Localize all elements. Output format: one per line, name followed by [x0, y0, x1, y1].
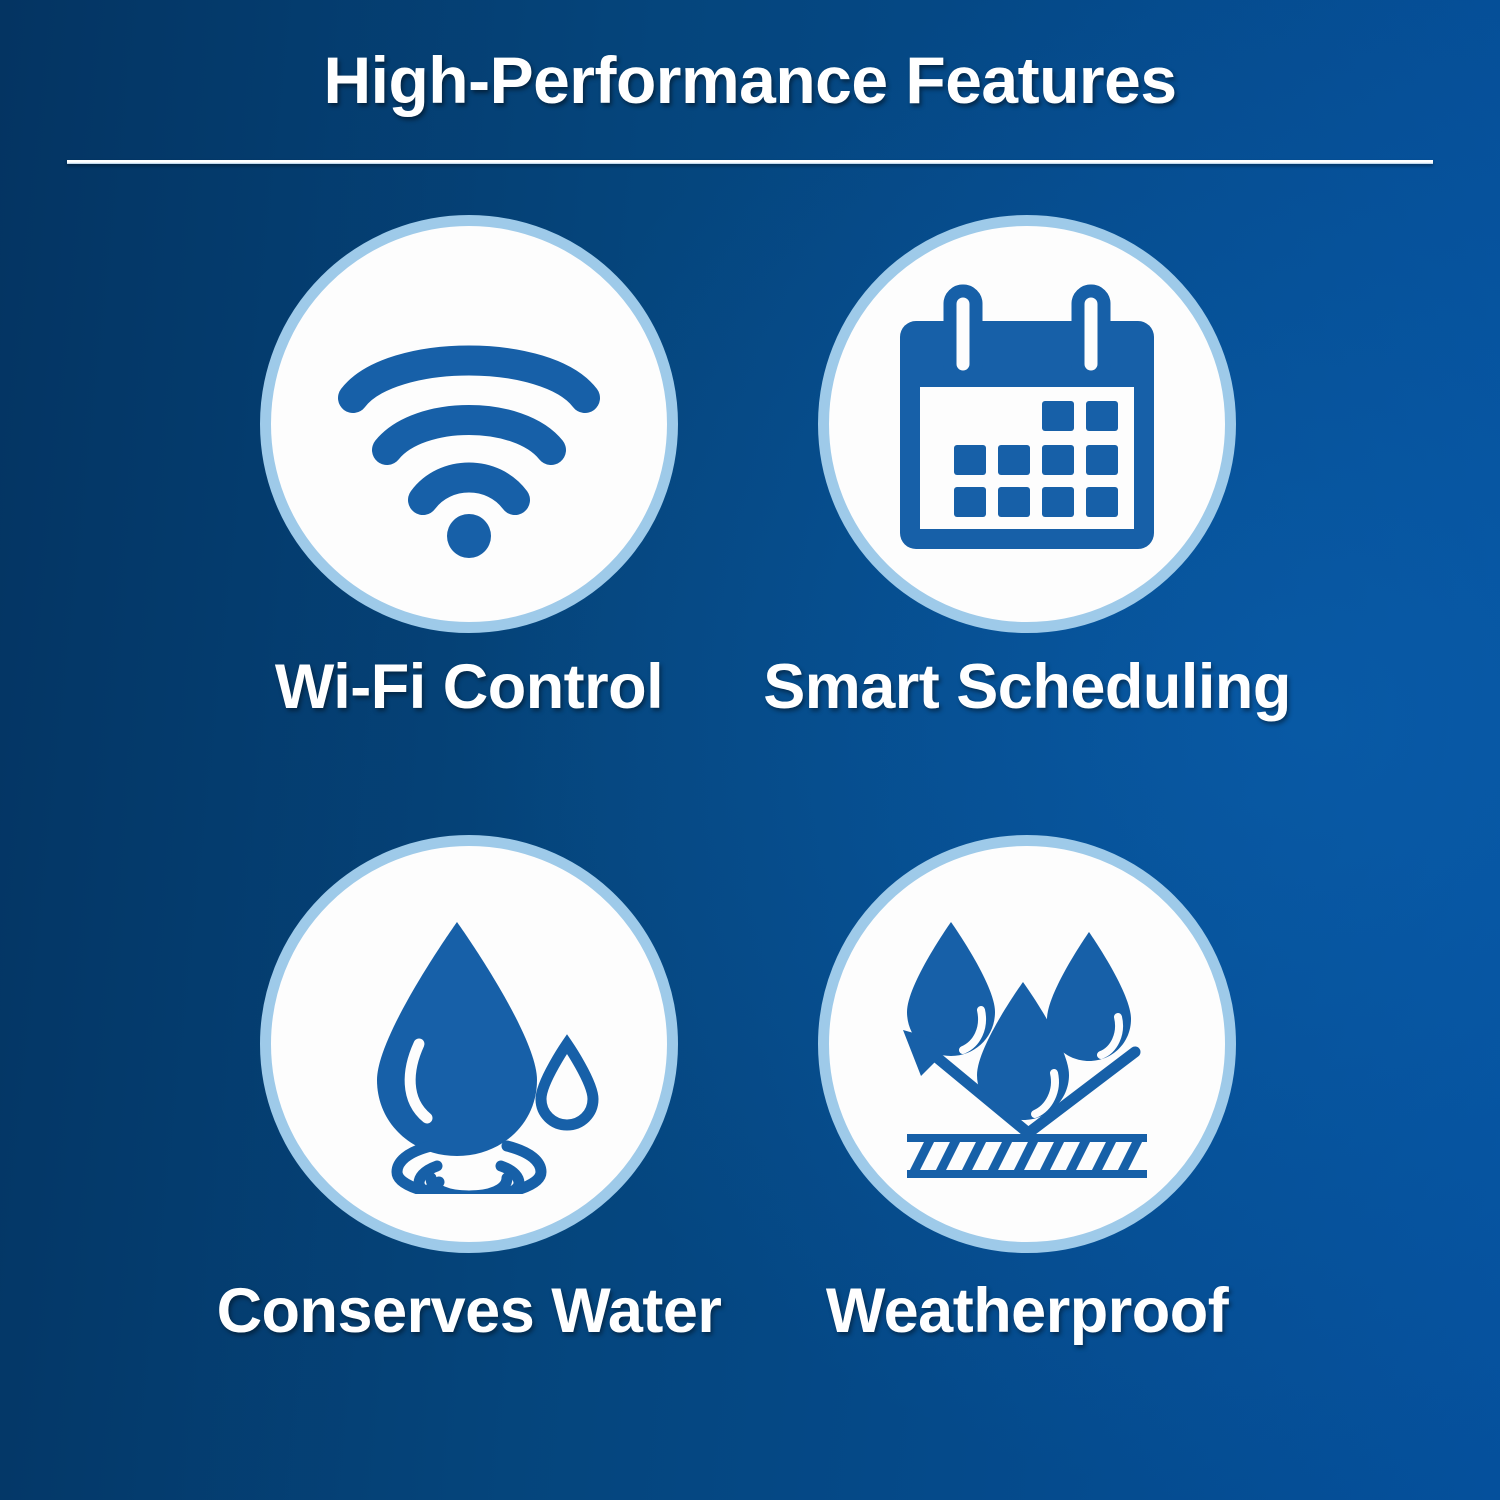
feature-icon-badge: [818, 215, 1236, 633]
feature-label: Wi-Fi Control: [189, 651, 749, 723]
feature-icon-badge: [260, 215, 678, 633]
feature-card-smart-scheduling[interactable]: Smart Scheduling: [747, 215, 1307, 723]
surface-bar: [907, 1134, 1147, 1178]
wifi-dot: [447, 514, 491, 558]
calendar-icon: [882, 279, 1172, 569]
feature-label: Weatherproof: [747, 1275, 1307, 1347]
feature-icon-badge: [818, 835, 1236, 1253]
water-drop-ripple-icon: [319, 894, 619, 1194]
feature-card-weatherproof[interactable]: Weatherproof: [747, 835, 1307, 1347]
feature-card-conserves-water[interactable]: Conserves Water: [189, 835, 749, 1347]
feature-label: Smart Scheduling: [747, 651, 1307, 723]
water-repellent-surface-icon: [877, 894, 1177, 1194]
feature-grid: Wi-Fi Control: [0, 215, 1500, 1500]
page-title: High-Performance Features: [0, 42, 1500, 118]
main-drop: [377, 922, 537, 1156]
feature-card-wifi-control[interactable]: Wi-Fi Control: [189, 215, 749, 723]
drop-top-right: [1047, 932, 1131, 1061]
feature-icon-badge: [260, 835, 678, 1253]
title-divider: [67, 160, 1433, 164]
feature-label: Conserves Water: [189, 1275, 749, 1347]
wifi-icon: [319, 274, 619, 574]
small-drop: [541, 1044, 593, 1125]
